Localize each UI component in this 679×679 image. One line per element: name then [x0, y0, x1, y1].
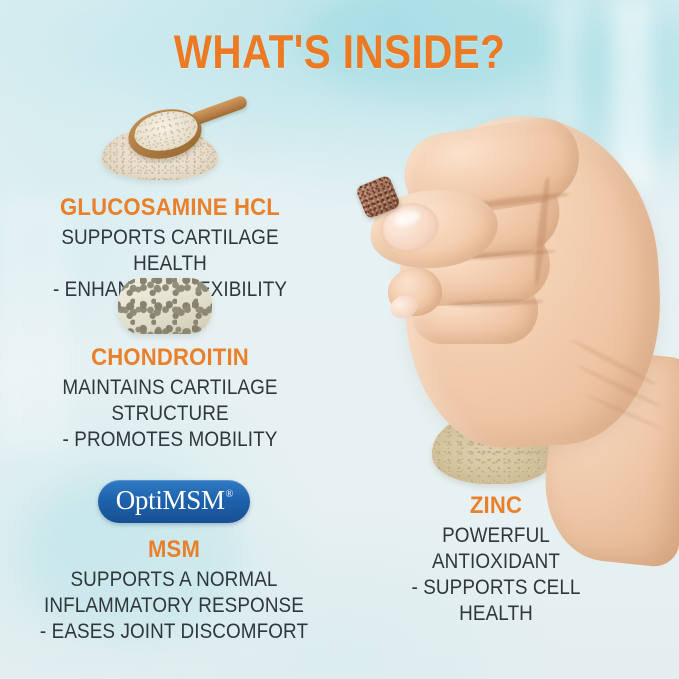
hand-holding-tablet-image: [352, 112, 679, 542]
ingredient-name-glucosamine: GLUCOSAMINE HCL: [32, 194, 308, 222]
optimsm-logo-text: OptiMSM: [116, 485, 225, 516]
ingredient-name-chondroitin: CHONDROITIN: [25, 344, 316, 372]
optimsm-logo: OptiMSM®: [98, 480, 250, 523]
ingredient-name-msm: MSM: [34, 536, 314, 564]
page-title: WHAT'S INSIDE?: [48, 24, 632, 79]
porous-bone-structure: [118, 278, 212, 334]
ingredient-block-msm: MSM SUPPORTS A NORMAL INFLAMMATORY RESPO…: [22, 536, 326, 645]
product-infographic: WHAT'S INSIDE? GLUCOSAMINE HCL SUPPORTS …: [0, 0, 679, 679]
ingredient-block-chondroitin: CHONDROITIN MAINTAINS CARTILAGE STRUCTUR…: [12, 344, 328, 453]
glucosamine-powder-image: [98, 92, 248, 188]
ingredient-description-msm: SUPPORTS A NORMAL INFLAMMATORY RESPONSE …: [37, 567, 311, 645]
ingredient-description-chondroitin: MAINTAINS CARTILAGE STRUCTURE - PROMOTES…: [28, 375, 312, 453]
registered-trademark-icon: ®: [226, 489, 234, 500]
chondroitin-cartilage-image: [118, 278, 212, 334]
